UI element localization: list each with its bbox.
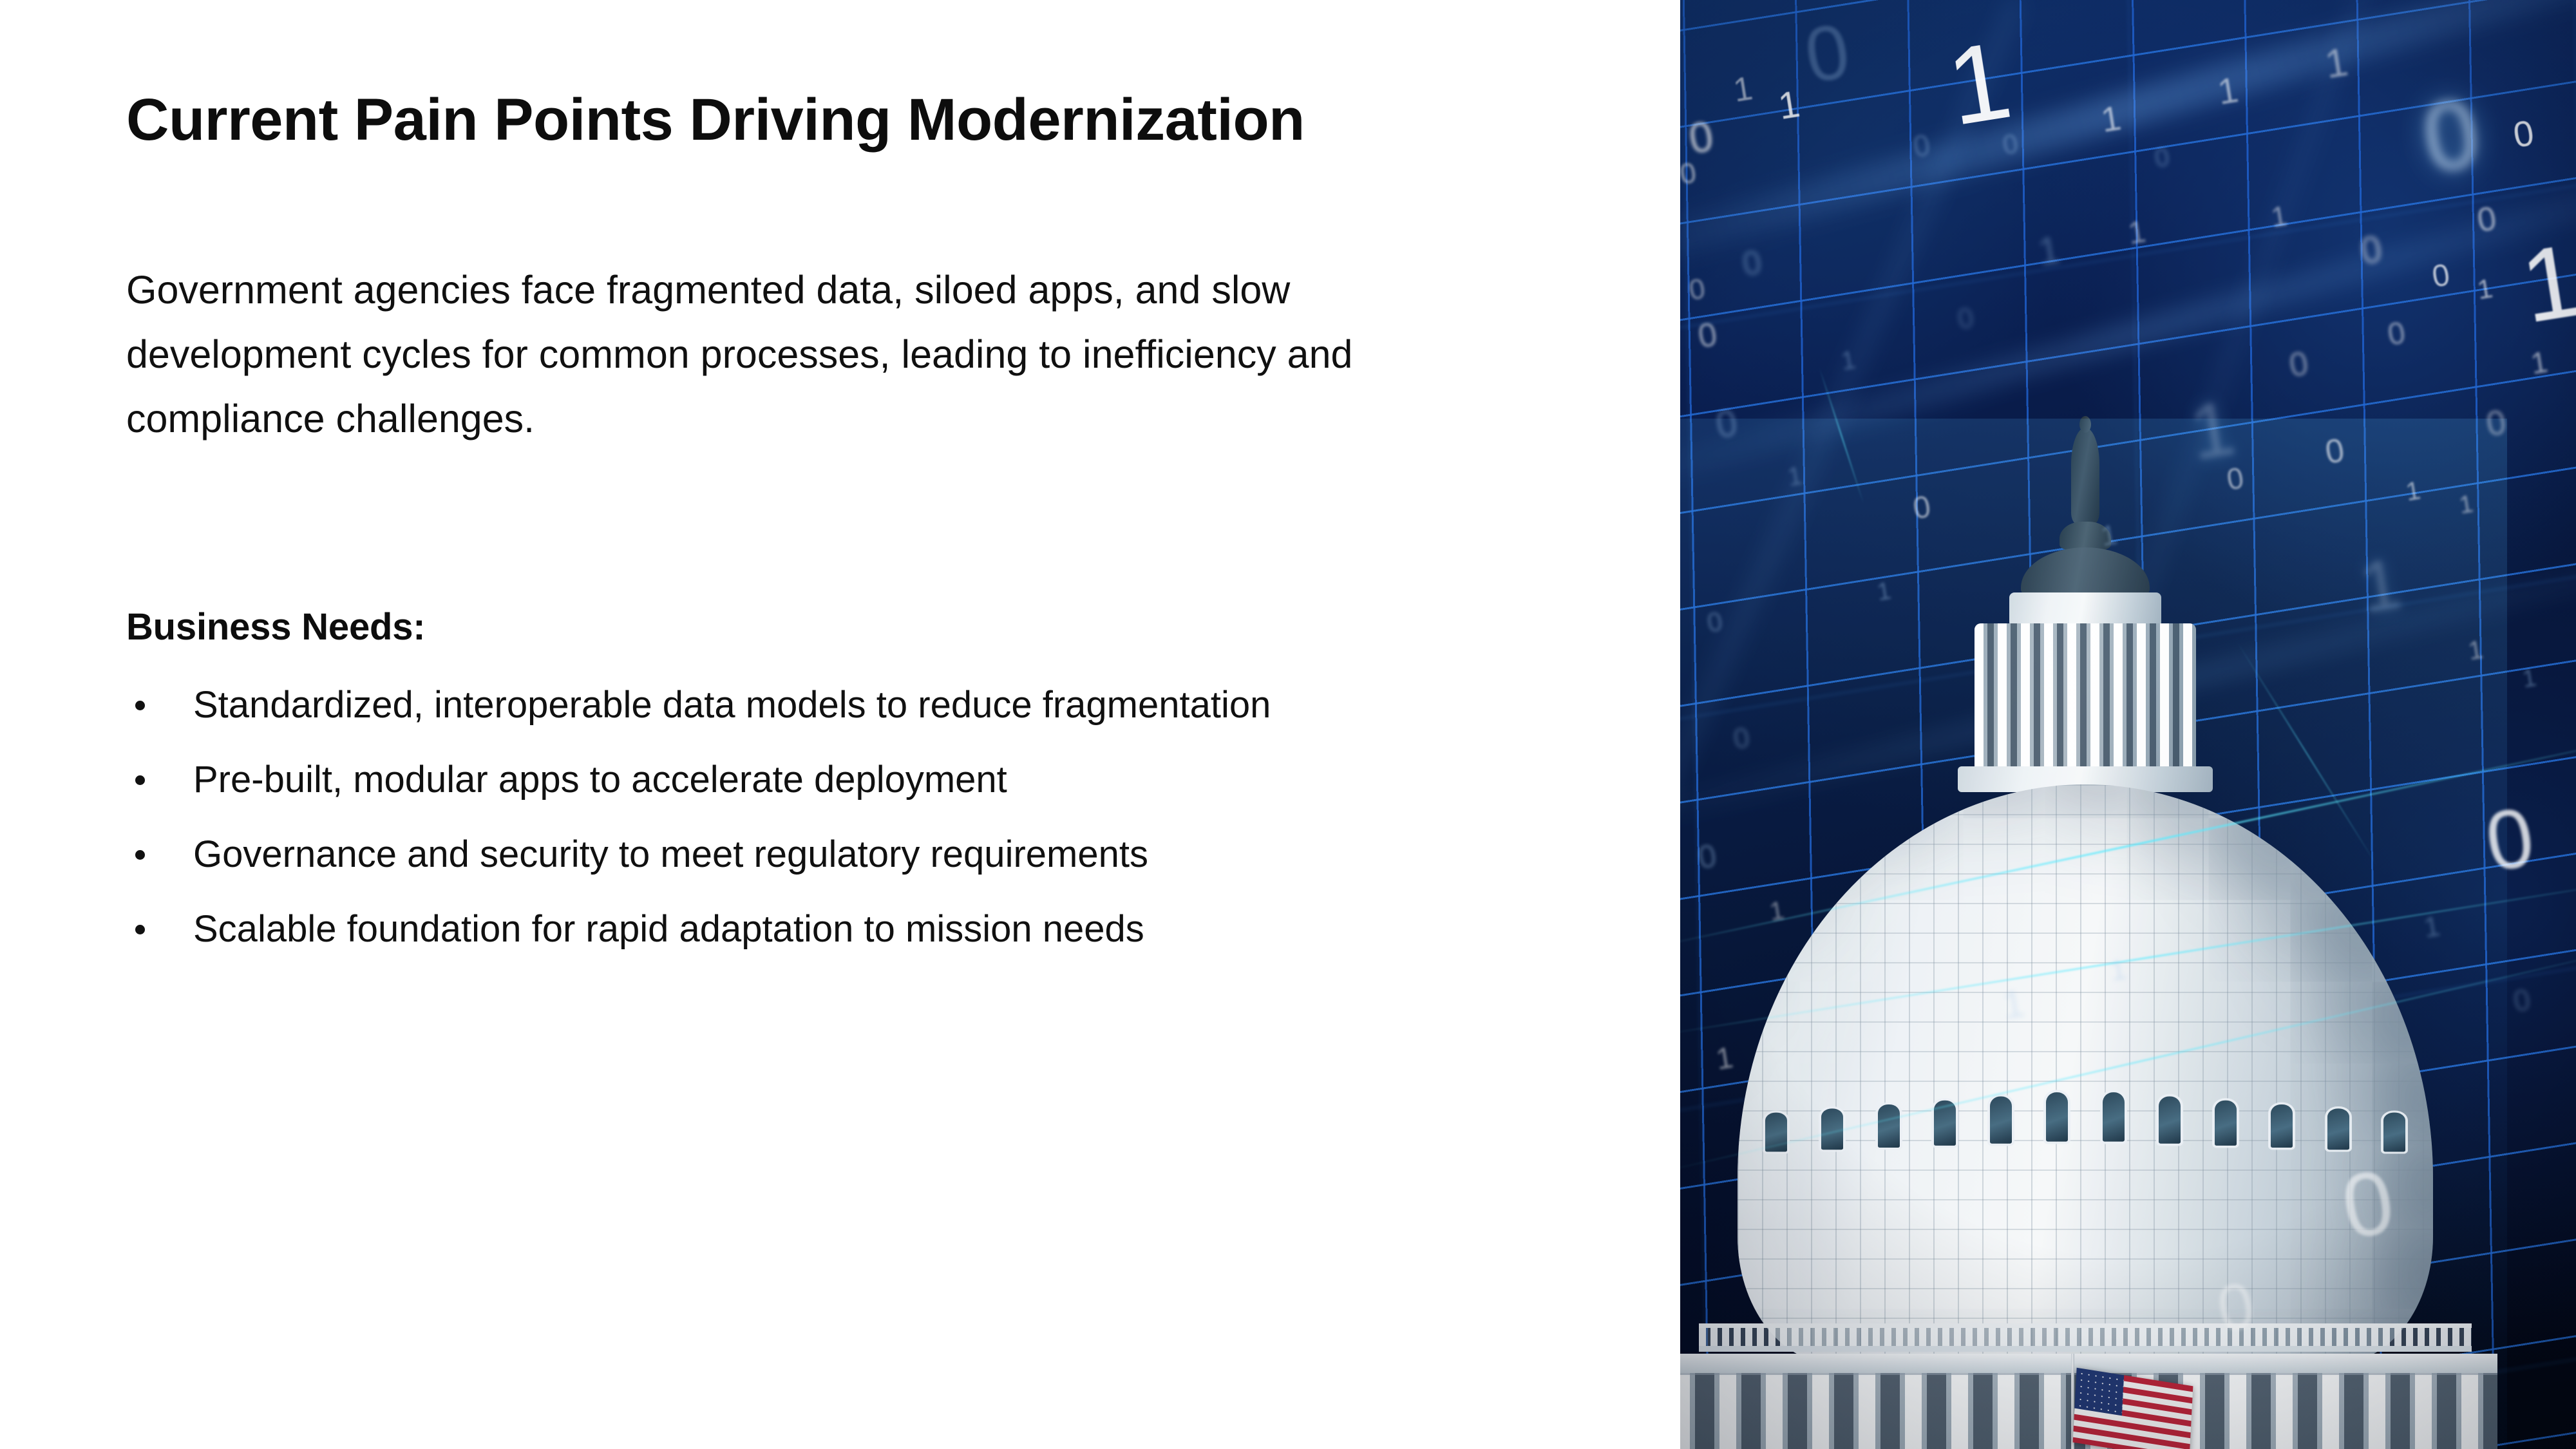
binary-digit: 0 <box>1680 158 1698 189</box>
binary-digit-overlay: 0111111000000000111001010010010101010011… <box>1680 0 2576 1449</box>
lead-paragraph: Government agencies face fragmented data… <box>126 258 1498 451</box>
binary-digit: 0 <box>2475 202 2499 238</box>
binary-digit: 1 <box>2099 100 2123 137</box>
list-item-label: Standardized, interoperable data models … <box>193 684 1271 726</box>
binary-digit: 0 <box>1686 115 1716 160</box>
list-item-label: Governance and security to meet regulato… <box>193 833 1148 875</box>
binary-digit: 0 <box>1696 839 1718 874</box>
binary-digit: 0 <box>2224 462 2245 494</box>
binary-digit: 0 <box>1800 12 1855 95</box>
binary-digit: 1 <box>2356 548 2406 624</box>
binary-digit: 0 <box>2430 260 2452 293</box>
list-item: Governance and security to meet regulato… <box>126 835 1607 910</box>
list-item-label: Scalable foundation for rapid adaptation… <box>193 908 1144 950</box>
binary-digit: 0 <box>1956 303 1976 334</box>
binary-digit: 0 <box>2358 231 2385 270</box>
binary-digit: 0 <box>2213 1273 2259 1341</box>
binary-digit: 1 <box>2215 71 2240 109</box>
binary-digit: 1 <box>2421 912 2441 942</box>
binary-digit: 1 <box>2036 231 2063 272</box>
binary-digit: 1 <box>2000 984 2027 1025</box>
business-needs-heading: Business Needs: <box>126 605 425 649</box>
bullet-dot-icon <box>135 775 145 785</box>
binary-digit: 1 <box>1875 579 1893 605</box>
binary-digit: 0 <box>2323 433 2347 469</box>
binary-digit: 0 <box>1740 245 1764 281</box>
binary-digit: 0 <box>2153 144 2171 172</box>
binary-digit: 1 <box>2515 228 2576 339</box>
binary-digit: 1 <box>2467 637 2485 665</box>
binary-digit: 0 <box>2484 404 2508 442</box>
binary-digit: 1 <box>2404 477 2422 505</box>
binary-digit: 1 <box>1714 1042 1734 1074</box>
binary-digit: 0 <box>1911 491 1933 525</box>
binary-digit: 1 <box>2476 274 2495 303</box>
list-item: Scalable foundation for rapid adaptation… <box>126 910 1607 985</box>
binary-digit: 1 <box>2108 955 2128 985</box>
binary-digit: 1 <box>2458 492 2475 518</box>
binary-digit: 1 <box>2521 666 2538 692</box>
binary-digit: 0 <box>1732 723 1752 753</box>
capitol-binary-image: 0111111000000000111001010010010101010011… <box>1680 0 2576 1449</box>
binary-digit: 1 <box>1776 86 1803 126</box>
binary-digit: 1 <box>1732 71 1756 108</box>
binary-digit: 1 <box>1786 463 1804 491</box>
binary-digit: 1 <box>2322 42 2351 85</box>
binary-digit: 1 <box>2126 216 2148 250</box>
binary-digit: 1 <box>2099 520 2119 551</box>
binary-digit: 0 <box>2480 794 2539 884</box>
binary-digit: 0 <box>2287 346 2311 383</box>
binary-digit: 0 <box>2510 115 2536 153</box>
binary-digit: 1 <box>1768 898 1786 925</box>
list-item: Pre-built, modular apps to accelerate de… <box>126 761 1607 835</box>
binary-digit: 1 <box>2269 202 2289 232</box>
content-column: Current Pain Points Driving Modernizatio… <box>126 0 1582 1449</box>
binary-digit: 1 <box>1839 347 1857 375</box>
binary-digit: 0 <box>2336 1156 2400 1253</box>
business-needs-list: Standardized, interoperable data models … <box>126 686 1607 985</box>
binary-digit: 1 <box>2185 388 2240 471</box>
bullet-dot-icon <box>135 850 145 860</box>
bullet-dot-icon <box>135 925 145 934</box>
binary-digit: 0 <box>2511 984 2532 1016</box>
binary-digit: 0 <box>1713 404 1739 444</box>
list-item: Standardized, interoperable data models … <box>126 686 1607 761</box>
binary-digit: 0 <box>2385 317 2407 351</box>
binary-digit: 0 <box>1696 317 1719 354</box>
binary-digit: 0 <box>1687 274 1707 305</box>
binary-digit: 0 <box>1705 607 1725 636</box>
page-title: Current Pain Points Driving Modernizatio… <box>126 87 1607 153</box>
bullet-dot-icon <box>135 701 145 710</box>
slide-root: Current Pain Points Driving Modernizatio… <box>0 0 2576 1449</box>
binary-digit: 1 <box>1941 25 2018 143</box>
binary-digit: 0 <box>2416 83 2485 187</box>
list-item-label: Pre-built, modular apps to accelerate de… <box>193 759 1007 800</box>
binary-digit: 0 <box>1911 129 1931 161</box>
binary-digit: 1 <box>2529 346 2550 378</box>
